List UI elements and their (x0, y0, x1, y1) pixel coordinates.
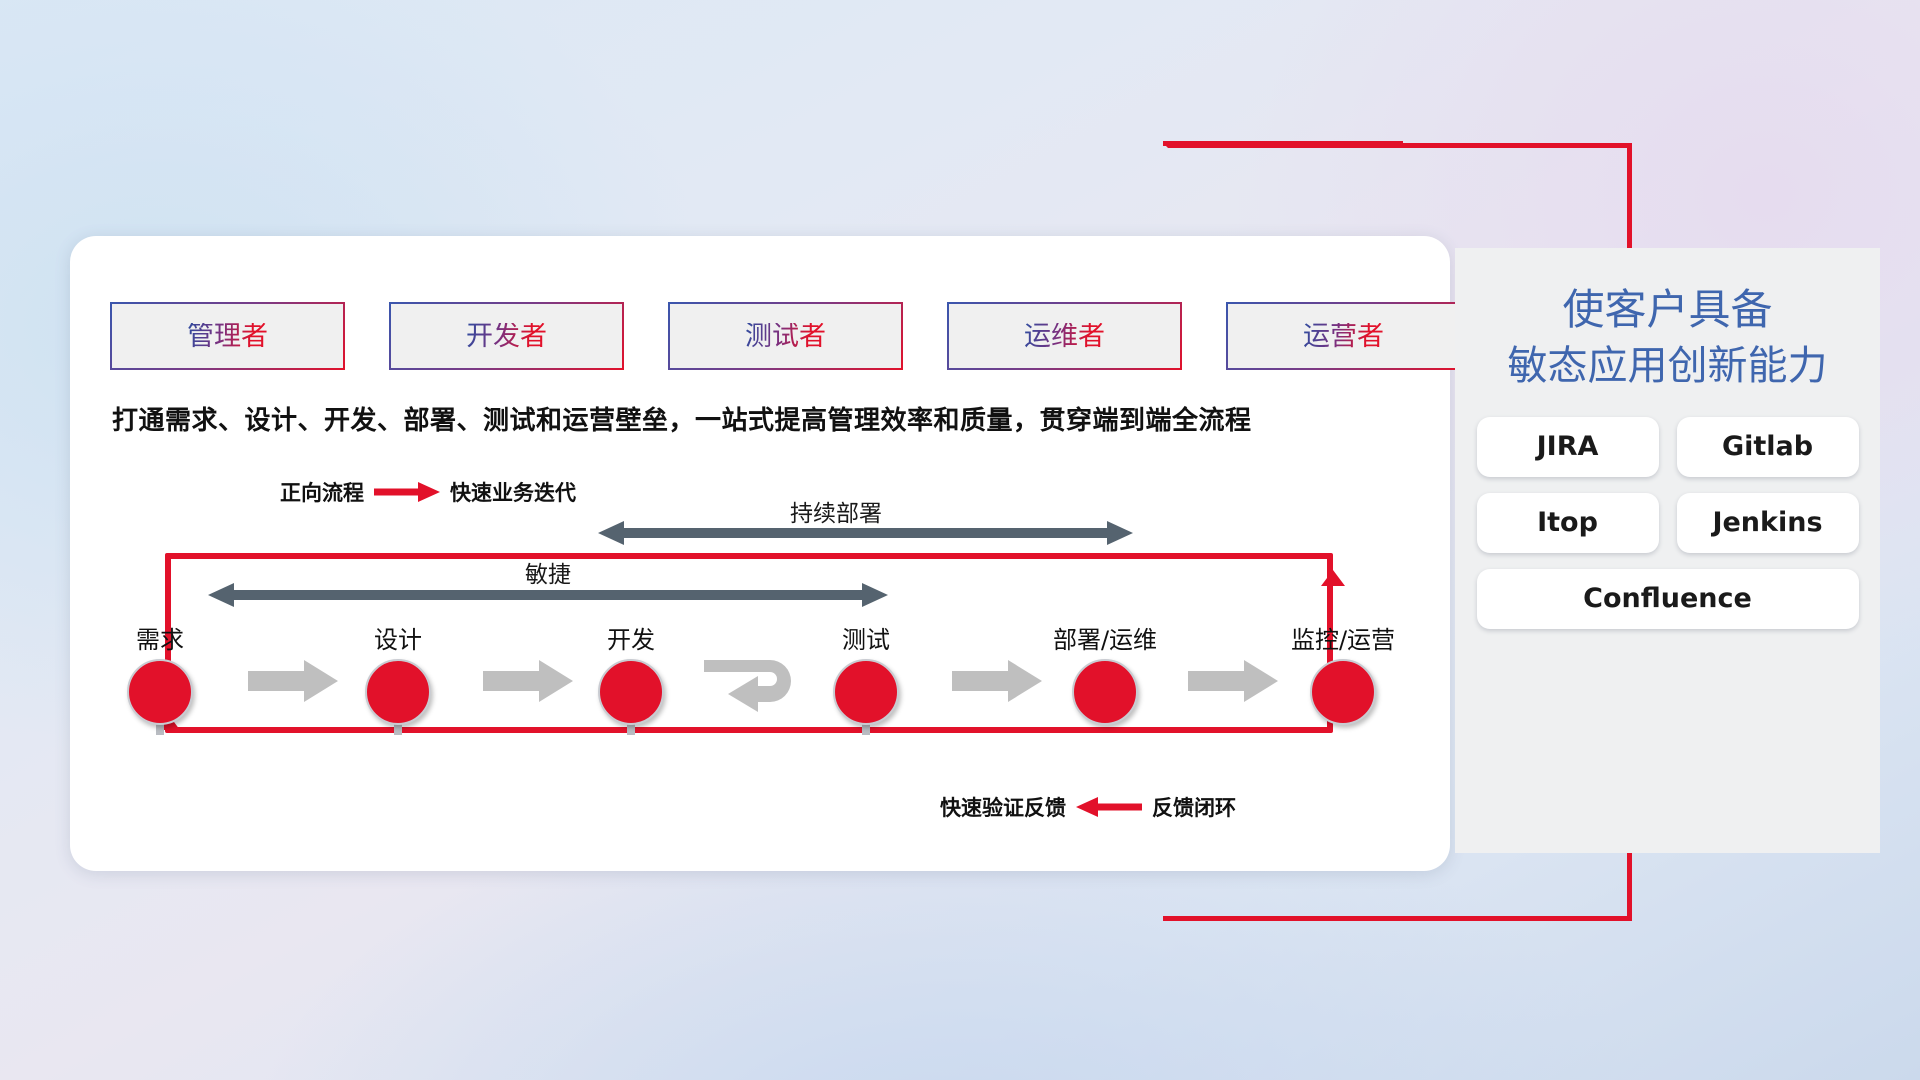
role-box-operations[interactable]: 运营者 (1226, 302, 1461, 370)
role-box-tester[interactable]: 测试者 (668, 302, 903, 370)
stage-dot (833, 659, 899, 725)
legend-forward-target: 快速业务迭代 (450, 477, 576, 507)
legend-forward-source: 正向流程 (280, 477, 364, 507)
red-bracket-stub-top (1163, 141, 1403, 146)
pipeline-stage-monitor-operations[interactable]: 监控/运营 (1273, 620, 1413, 725)
legend-forward-flow: 正向流程 快速业务迭代 (280, 477, 576, 507)
chevron-arrow-1-icon (248, 660, 338, 702)
role-box-inner: 运维者 (949, 304, 1180, 368)
stage-dot (598, 659, 664, 725)
stage-label: 开发 (571, 620, 691, 655)
role-label: 运维者 (1024, 323, 1105, 350)
legend-feedback-target: 反馈闭环 (1152, 792, 1236, 822)
stage-dot (365, 659, 431, 725)
stage-label: 监控/运营 (1273, 620, 1413, 655)
tool-pill-confluence[interactable]: Confluence (1477, 569, 1859, 629)
panel-title-line1: 使客户具备 (1455, 282, 1880, 339)
red-arrow-right-icon (374, 481, 440, 503)
pipeline-stage-develop[interactable]: 开发 (571, 620, 691, 725)
role-box-inner: 运营者 (1228, 304, 1459, 368)
stage-dot (1310, 659, 1376, 725)
panel-title: 使客户具备 敏态应用创新能力 (1455, 282, 1880, 393)
legend-feedback-loop: 快速验证反馈 反馈闭环 (940, 792, 1236, 822)
description-text: 打通需求、设计、开发、部署、测试和运营壁垒，一站式提高管理效率和质量，贯穿端到端… (112, 400, 1442, 437)
red-arrow-left-icon (1076, 796, 1142, 818)
pipeline-stage-deploy-ops[interactable]: 部署/运维 (1040, 620, 1170, 725)
role-label: 运营者 (1303, 323, 1384, 350)
stage-label: 设计 (338, 620, 458, 655)
capability-panel: 使客户具备 敏态应用创新能力 JIRA Gitlab Itop Jenkins … (1455, 248, 1880, 853)
role-box-inner: 管理者 (112, 304, 343, 368)
pipeline-stage-test[interactable]: 测试 (806, 620, 926, 725)
iteration-loop-icon (700, 650, 805, 716)
chevron-arrow-3-icon (952, 660, 1042, 702)
role-box-inner: 测试者 (670, 304, 901, 368)
role-box-ops[interactable]: 运维者 (947, 302, 1182, 370)
pipeline-stage-design[interactable]: 设计 (338, 620, 458, 725)
tool-pill-jira[interactable]: JIRA (1477, 417, 1659, 477)
red-bracket-stub-bottom (1163, 916, 1403, 921)
red-loop-arrowhead-icon (1300, 540, 1370, 600)
pipeline-stage-requirement[interactable]: 需求 (100, 620, 220, 725)
stage-dot (1072, 659, 1138, 725)
legend-feedback-source: 快速验证反馈 (940, 792, 1066, 822)
role-label: 管理者 (187, 323, 268, 350)
role-label: 测试者 (745, 323, 826, 350)
role-box-developer[interactable]: 开发者 (389, 302, 624, 370)
tool-pill-itop[interactable]: Itop (1477, 493, 1659, 553)
stage-label: 测试 (806, 620, 926, 655)
panel-title-line2: 敏态应用创新能力 (1455, 339, 1880, 393)
tool-pill-gitlab[interactable]: Gitlab (1677, 417, 1859, 477)
role-label: 开发者 (466, 323, 547, 350)
slide-canvas: 管理者 开发者 测试者 运维者 运营者 打通需求、设计、开发、部署、测试和运营壁… (0, 0, 1920, 1080)
role-box-inner: 开发者 (391, 304, 622, 368)
role-box-list: 管理者 开发者 测试者 运维者 运营者 (110, 302, 1461, 370)
chevron-arrow-2-icon (483, 660, 573, 702)
stage-label: 需求 (100, 620, 220, 655)
role-box-manager[interactable]: 管理者 (110, 302, 345, 370)
tool-list: JIRA Gitlab Itop Jenkins Confluence (1467, 417, 1868, 629)
stage-label: 部署/运维 (1040, 620, 1170, 655)
tool-pill-jenkins[interactable]: Jenkins (1677, 493, 1859, 553)
chevron-arrow-4-icon (1188, 660, 1278, 702)
stage-dot (127, 659, 193, 725)
double-arrow-continuous-deployment (598, 520, 1133, 546)
